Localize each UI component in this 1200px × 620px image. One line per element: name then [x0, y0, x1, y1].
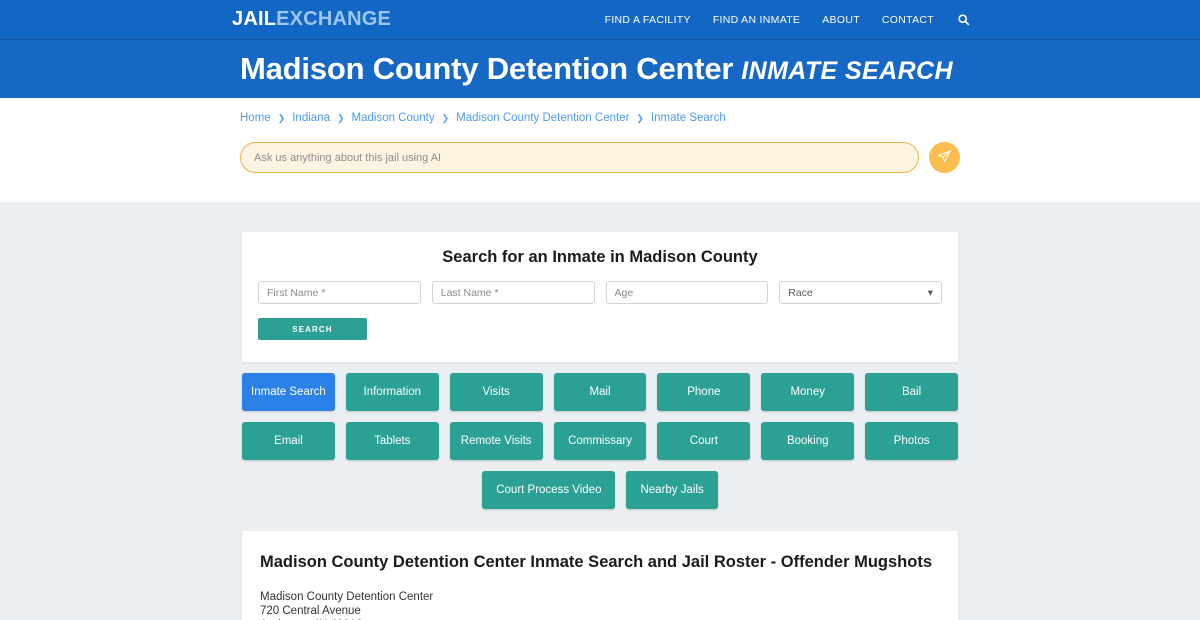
last-name-field[interactable] [432, 281, 595, 304]
breadcrumb-separator-icon: ❯ [278, 113, 286, 124]
tab-information[interactable]: Information [346, 373, 439, 411]
breadcrumb-item-indiana[interactable]: Indiana [292, 112, 330, 124]
site-header: JAILEXCHANGE FIND A FACILITY FIND AN INM… [0, 0, 1200, 40]
tab-visits[interactable]: Visits [450, 373, 543, 411]
breadcrumb-separator-icon: ❯ [337, 113, 345, 124]
tab-email[interactable]: Email [242, 422, 335, 460]
breadcrumb-separator-icon: ❯ [636, 113, 644, 124]
main-nav: FIND A FACILITY FIND AN INMATE ABOUT CON… [605, 13, 970, 27]
search-button[interactable]: SEARCH [258, 318, 367, 340]
logo-text-primary: JAIL [232, 8, 276, 30]
tab-mail[interactable]: Mail [554, 373, 647, 411]
paper-plane-icon [937, 149, 952, 167]
tab-bail[interactable]: Bail [865, 373, 958, 411]
first-name-input[interactable] [267, 287, 412, 299]
main-content: Search for an Inmate in Madison County R… [0, 202, 1200, 620]
facility-info-card: Madison County Detention Center Inmate S… [242, 531, 958, 620]
race-select[interactable]: Race ▾ [779, 281, 942, 304]
section-tabs-row-1: Inmate Search Information Visits Mail Ph… [242, 373, 958, 411]
tab-court-process-video[interactable]: Court Process Video [482, 471, 615, 509]
tab-inmate-search[interactable]: Inmate Search [242, 373, 335, 411]
last-name-input[interactable] [441, 287, 586, 299]
page-root: JAILEXCHANGE FIND A FACILITY FIND AN INM… [0, 0, 1200, 620]
ai-search-field-wrapper[interactable] [240, 142, 919, 173]
nav-item-find-a-facility[interactable]: FIND A FACILITY [605, 14, 691, 26]
hero-banner: Madison County Detention CenterINMATE SE… [0, 40, 1200, 98]
page-title-sub: INMATE SEARCH [741, 57, 953, 85]
breadcrumb-item-inmate-search[interactable]: Inmate Search [651, 112, 726, 124]
site-logo[interactable]: JAILEXCHANGE [232, 8, 391, 31]
breadcrumb: Home ❯ Indiana ❯ Madison County ❯ Madiso… [240, 112, 960, 124]
facility-address: Madison County Detention Center 720 Cent… [260, 590, 940, 620]
page-title-main: Madison County Detention Center [240, 51, 733, 86]
breadcrumb-item-madison-county[interactable]: Madison County [352, 112, 435, 124]
facility-info-heading: Madison County Detention Center Inmate S… [260, 553, 940, 572]
tab-phone[interactable]: Phone [657, 373, 750, 411]
tab-tablets[interactable]: Tablets [346, 422, 439, 460]
ai-search-submit-button[interactable] [929, 142, 960, 173]
tab-court[interactable]: Court [657, 422, 750, 460]
tab-photos[interactable]: Photos [865, 422, 958, 460]
chevron-down-icon: ▾ [928, 287, 933, 299]
logo-text-secondary: EXCHANGE [276, 8, 391, 30]
inmate-search-form: Race ▾ [258, 281, 942, 304]
search-icon[interactable] [956, 13, 970, 27]
breadcrumb-item-madison-county-detention-center[interactable]: Madison County Detention Center [456, 112, 629, 124]
ai-search-bar [240, 142, 960, 173]
section-tabs-row-2: Email Tablets Remote Visits Commissary C… [242, 422, 958, 460]
tab-nearby-jails[interactable]: Nearby Jails [626, 471, 717, 509]
breadcrumb-ai-band: Home ❯ Indiana ❯ Madison County ❯ Madiso… [0, 98, 1200, 202]
race-select-value: Race [788, 287, 813, 299]
tab-remote-visits[interactable]: Remote Visits [450, 422, 543, 460]
section-tabs-row-3: Court Process Video Nearby Jails [242, 471, 958, 509]
inmate-search-heading: Search for an Inmate in Madison County [258, 248, 942, 267]
nav-item-find-an-inmate[interactable]: FIND AN INMATE [713, 14, 800, 26]
first-name-field[interactable] [258, 281, 421, 304]
nav-item-contact[interactable]: CONTACT [882, 14, 934, 26]
facility-street: 720 Central Avenue [260, 604, 940, 618]
tab-booking[interactable]: Booking [761, 422, 854, 460]
age-input[interactable] [615, 287, 760, 299]
breadcrumb-separator-icon: ❯ [442, 113, 450, 124]
tab-commissary[interactable]: Commissary [554, 422, 647, 460]
tab-money[interactable]: Money [761, 373, 854, 411]
facility-name: Madison County Detention Center [260, 590, 940, 604]
age-field[interactable] [606, 281, 769, 304]
page-title: Madison County Detention CenterINMATE SE… [240, 51, 960, 87]
ai-search-input[interactable] [254, 152, 905, 164]
breadcrumb-item-home[interactable]: Home [240, 112, 271, 124]
nav-item-about[interactable]: ABOUT [822, 14, 860, 26]
inmate-search-card: Search for an Inmate in Madison County R… [242, 232, 958, 362]
